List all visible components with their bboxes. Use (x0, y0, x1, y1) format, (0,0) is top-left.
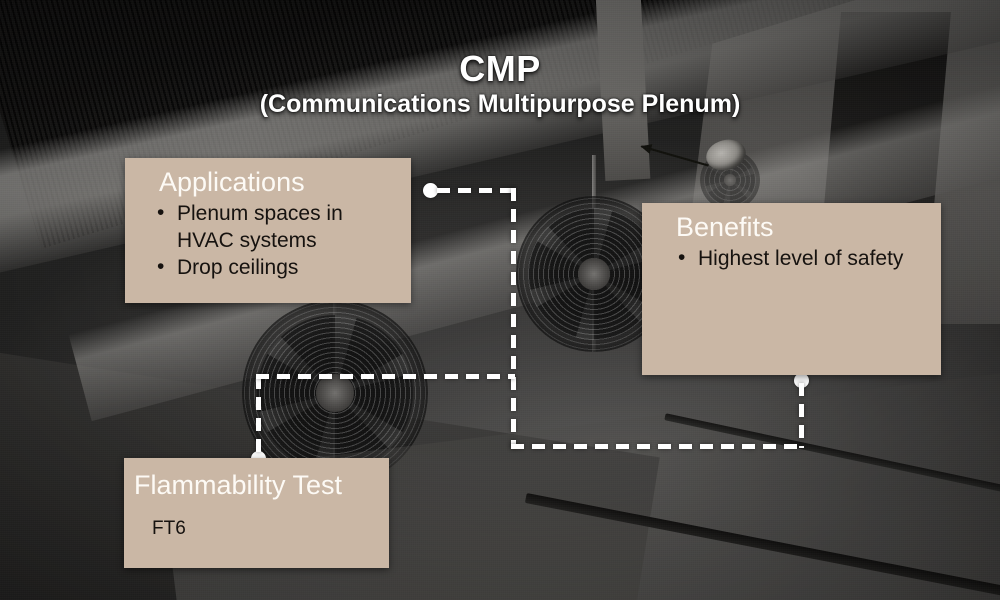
card-applications-title: Applications (155, 158, 397, 201)
infographic-stage: CMP (Communications Multipurpose Plenum)… (0, 0, 1000, 600)
card-benefits-list: Highest level of safety (676, 246, 927, 272)
card-benefits-title: Benefits (676, 203, 927, 246)
card-benefits[interactable]: Benefits Highest level of safety (642, 203, 941, 375)
list-item: Highest level of safety (676, 246, 927, 272)
list-item: Plenum spaces in HVAC systems (155, 201, 397, 254)
card-flammability-value: FT6 (134, 504, 377, 542)
card-flammability-title: Flammability Test (134, 458, 377, 504)
page-subtitle: (Communications Multipurpose Plenum) (0, 90, 1000, 119)
card-flammability[interactable]: Flammability Test FT6 (124, 458, 389, 568)
page-title: CMP (0, 50, 1000, 87)
card-applications[interactable]: Applications Plenum spaces in HVAC syste… (125, 158, 411, 303)
list-item: Drop ceilings (155, 255, 397, 281)
card-applications-list: Plenum spaces in HVAC systems Drop ceili… (155, 201, 397, 281)
title-block: CMP (Communications Multipurpose Plenum) (0, 50, 1000, 119)
